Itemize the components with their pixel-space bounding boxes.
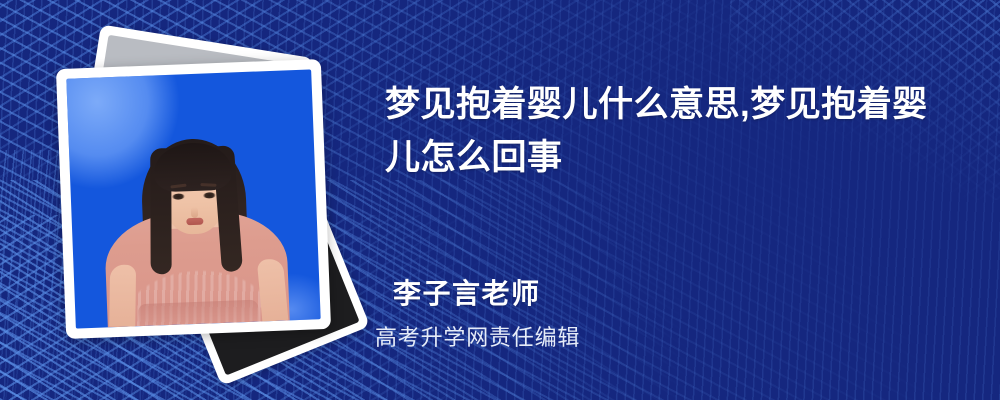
portrait-arm-left (109, 265, 136, 327)
portrait-dress-waist (137, 300, 258, 327)
portrait-nose (190, 206, 197, 217)
portrait-mouth (186, 217, 203, 225)
article-headline: 梦见抱着婴儿什么意思,梦见抱着婴儿怎么回事 (385, 78, 960, 184)
photo-frame-front (56, 59, 331, 339)
author-portrait-photo (66, 69, 320, 328)
banner-text-column: 梦见抱着婴儿什么意思,梦见抱着婴儿怎么回事 李子言老师 高考升学网责任编辑 (385, 0, 985, 400)
portrait-eye-left (171, 193, 184, 199)
author-photo-stack (55, 22, 355, 372)
portrait-figure (66, 69, 320, 328)
portrait-eye-right (202, 192, 215, 198)
portrait-arm-right (256, 258, 288, 322)
author-name: 李子言老师 (393, 272, 541, 312)
article-cover-banner: 梦见抱着婴儿什么意思,梦见抱着婴儿怎么回事 李子言老师 高考升学网责任编辑 (0, 0, 1000, 400)
author-role: 高考升学网责任编辑 (375, 320, 580, 352)
